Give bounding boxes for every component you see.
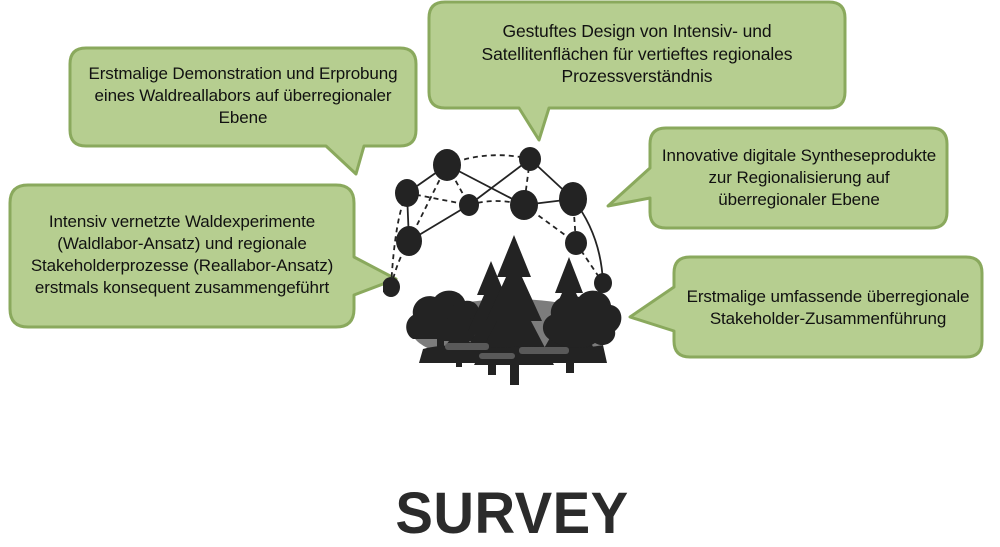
callout-erstmalige-demonstration[interactable]: Erstmalige Demonstration und Erprobung e… bbox=[68, 46, 418, 176]
forest-silhouette bbox=[406, 235, 621, 385]
network-nodes bbox=[383, 147, 612, 297]
callout-text: Gestuftes Design von Intensiv- und Satel… bbox=[439, 2, 835, 106]
callout-text: Intensiv vernetzte Waldexperimente (Wald… bbox=[22, 185, 342, 325]
callout-text: Erstmalige Demonstration und Erprobung e… bbox=[78, 47, 408, 145]
figure-canvas: Gestuftes Design von Intensiv- und Satel… bbox=[0, 0, 1000, 419]
callout-text: Erstmalige umfassende überregionale Stak… bbox=[678, 255, 978, 361]
logo-wordmark: SURVEY bbox=[387, 480, 637, 547]
logo-graphic bbox=[383, 143, 641, 419]
callout-erstmalige-umfassende-stakeholder-zusammenfuehrung[interactable]: Erstmalige umfassende überregionale Stak… bbox=[628, 255, 986, 362]
callout-intensiv-vernetzte-waldexperimente[interactable]: Intensiv vernetzte Waldexperimente (Wald… bbox=[8, 183, 398, 333]
callout-text: Innovative digitale Syntheseprodukte zur… bbox=[654, 126, 944, 230]
callout-innovative-digitale-syntheseprodukte[interactable]: Innovative digitale Syntheseprodukte zur… bbox=[606, 126, 951, 231]
callout-gestuftes-design[interactable]: Gestuftes Design von Intensiv- und Satel… bbox=[427, 0, 847, 140]
survey-logo: SURVEY bbox=[383, 143, 641, 419]
